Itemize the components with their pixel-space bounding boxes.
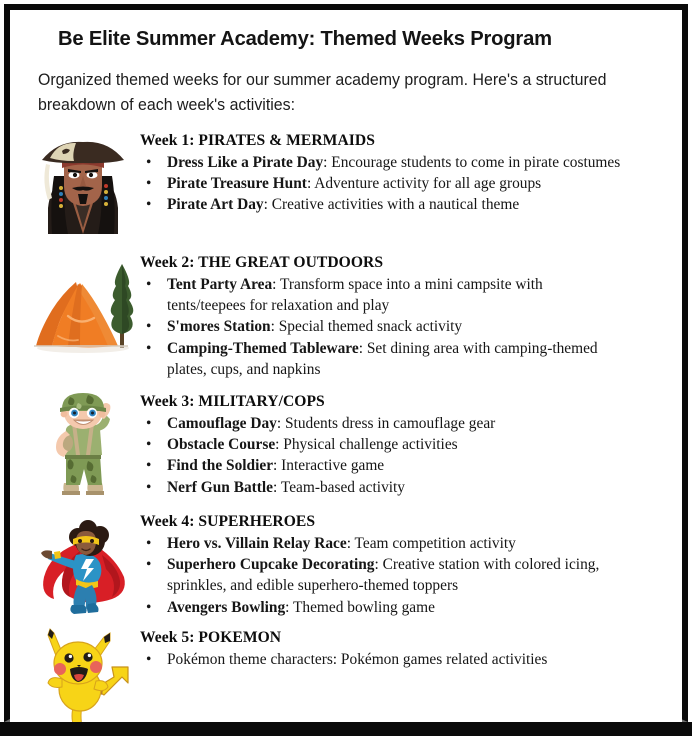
list-item: •S'mores Station: Special themed snack a… xyxy=(140,316,622,337)
pirate-icon-svg xyxy=(28,130,138,240)
list-item: •Camouflage Day: Students dress in camou… xyxy=(140,413,622,434)
activity-list-5: •Pokémon theme characters: Pokémon games… xyxy=(140,649,622,670)
list-item: •Pirate Treasure Hunt: Adventure activit… xyxy=(140,173,622,194)
activity-sep: : xyxy=(359,340,367,357)
page-title: Be Elite Summer Academy: Themed Weeks Pr… xyxy=(58,27,649,51)
activity-name: Camouflage Day xyxy=(167,415,277,432)
document-page: Be Elite Summer Academy: Themed Weeks Pr… xyxy=(10,10,682,722)
list-item: •Superhero Cupcake Decorating: Creative … xyxy=(140,554,622,596)
activity-detail: Pokémon theme characters: Pokémon games … xyxy=(167,651,547,668)
bullet-icon: • xyxy=(146,554,151,575)
list-item: •Tent Party Area: Transform space into a… xyxy=(140,274,622,316)
activity-list-3: •Camouflage Day: Students dress in camou… xyxy=(140,413,622,498)
list-item: •Find the Soldier: Interactive game xyxy=(140,455,622,476)
activity-name: Tent Party Area xyxy=(167,276,272,293)
week-body-1: Week 1: PIRATES & MERMAIDS •Dress Like a… xyxy=(140,130,622,216)
pikachu-icon xyxy=(28,627,138,722)
activity-name: Dress Like a Pirate Day xyxy=(167,154,323,171)
activity-detail: Special themed snack activity xyxy=(279,318,462,335)
list-item: •Nerf Gun Battle: Team-based activity xyxy=(140,477,622,498)
activity-sep: : xyxy=(273,479,281,496)
activity-detail: Team competition activity xyxy=(355,535,516,552)
bullet-icon: • xyxy=(146,413,151,434)
activity-detail: Team-based activity xyxy=(281,479,405,496)
soldier-icon xyxy=(28,391,138,501)
bullet-icon: • xyxy=(146,649,151,670)
bullet-icon: • xyxy=(146,533,151,554)
tent-icon xyxy=(28,252,138,362)
document-frame: Be Elite Summer Academy: Themed Weeks Pr… xyxy=(0,0,692,736)
list-item: •Hero vs. Villain Relay Race: Team compe… xyxy=(140,533,622,554)
activity-sep: : xyxy=(285,599,293,616)
week-heading: Week 4: SUPERHEROES xyxy=(140,511,622,532)
pirate-icon xyxy=(28,130,138,240)
bullet-icon: • xyxy=(146,338,151,359)
bullet-icon: • xyxy=(146,194,151,215)
activity-name: Avengers Bowling xyxy=(167,599,285,616)
week-heading: Week 2: THE GREAT OUTDOORS xyxy=(140,252,622,273)
intro-paragraph: Organized themed weeks for our summer ac… xyxy=(38,68,636,118)
activity-sep: : xyxy=(273,457,281,474)
list-item: •Dress Like a Pirate Day: Encourage stud… xyxy=(140,152,622,173)
week-body-3: Week 3: MILITARY/COPS •Camouflage Day: S… xyxy=(140,391,622,498)
activity-list-4: •Hero vs. Villain Relay Race: Team compe… xyxy=(140,533,622,618)
activity-name: Obstacle Course xyxy=(167,436,275,453)
activity-detail: Students dress in camouflage gear xyxy=(285,415,495,432)
bullet-icon: • xyxy=(146,274,151,295)
frame-bottom-bar xyxy=(0,722,692,736)
bullet-icon: • xyxy=(146,152,151,173)
superhero-icon-svg xyxy=(28,511,138,621)
list-item: •Pirate Art Day: Creative activities wit… xyxy=(140,194,622,215)
bullet-icon: • xyxy=(146,316,151,337)
list-item: •Camping-Themed Tableware: Set dining ar… xyxy=(140,338,622,380)
activity-sep: : xyxy=(264,196,272,213)
bullet-icon: • xyxy=(146,455,151,476)
activity-name: Pirate Treasure Hunt xyxy=(167,175,307,192)
week-body-2: Week 2: THE GREAT OUTDOORS •Tent Party A… xyxy=(140,252,622,380)
activity-sep: : xyxy=(374,556,382,573)
pikachu-icon-svg xyxy=(28,627,138,722)
week-body-5: Week 5: POKEMON •Pokémon theme character… xyxy=(140,627,622,670)
activity-name: Camping-Themed Tableware xyxy=(167,340,359,357)
superhero-icon xyxy=(28,511,138,621)
activity-detail: Physical challenge activities xyxy=(283,436,457,453)
bullet-icon: • xyxy=(146,173,151,194)
week-heading: Week 5: POKEMON xyxy=(140,627,622,648)
soldier-icon-svg xyxy=(28,391,138,501)
activity-detail: Adventure activity for all age groups xyxy=(314,175,541,192)
activity-name: Hero vs. Villain Relay Race xyxy=(167,535,347,552)
activity-sep: : xyxy=(347,535,355,552)
activity-list-2: •Tent Party Area: Transform space into a… xyxy=(140,274,622,380)
bullet-icon: • xyxy=(146,434,151,455)
activity-name: Nerf Gun Battle xyxy=(167,479,273,496)
activity-detail: Themed bowling game xyxy=(293,599,435,616)
bullet-icon: • xyxy=(146,597,151,618)
activity-name: Pirate Art Day xyxy=(167,196,264,213)
activity-detail: Creative activities with a nautical them… xyxy=(272,196,519,213)
activity-name: Superhero Cupcake Decorating xyxy=(167,556,374,573)
bullet-icon: • xyxy=(146,477,151,498)
list-item: •Obstacle Course: Physical challenge act… xyxy=(140,434,622,455)
activity-list-1: •Dress Like a Pirate Day: Encourage stud… xyxy=(140,152,622,216)
tent-icon-svg xyxy=(28,252,138,362)
list-item: •Pokémon theme characters: Pokémon games… xyxy=(140,649,622,670)
week-heading: Week 3: MILITARY/COPS xyxy=(140,391,622,412)
week-heading: Week 1: PIRATES & MERMAIDS xyxy=(140,130,622,151)
activity-sep: : xyxy=(277,415,285,432)
activity-detail: Interactive game xyxy=(281,457,384,474)
activity-name: Find the Soldier xyxy=(167,457,273,474)
list-item: •Avengers Bowling: Themed bowling game xyxy=(140,597,622,618)
week-body-4: Week 4: SUPERHEROES •Hero vs. Villain Re… xyxy=(140,511,622,618)
activity-detail: Encourage students to come in pirate cos… xyxy=(331,154,620,171)
activity-sep: : xyxy=(271,318,279,335)
activity-sep: : xyxy=(272,276,280,293)
activity-name: S'mores Station xyxy=(167,318,271,335)
